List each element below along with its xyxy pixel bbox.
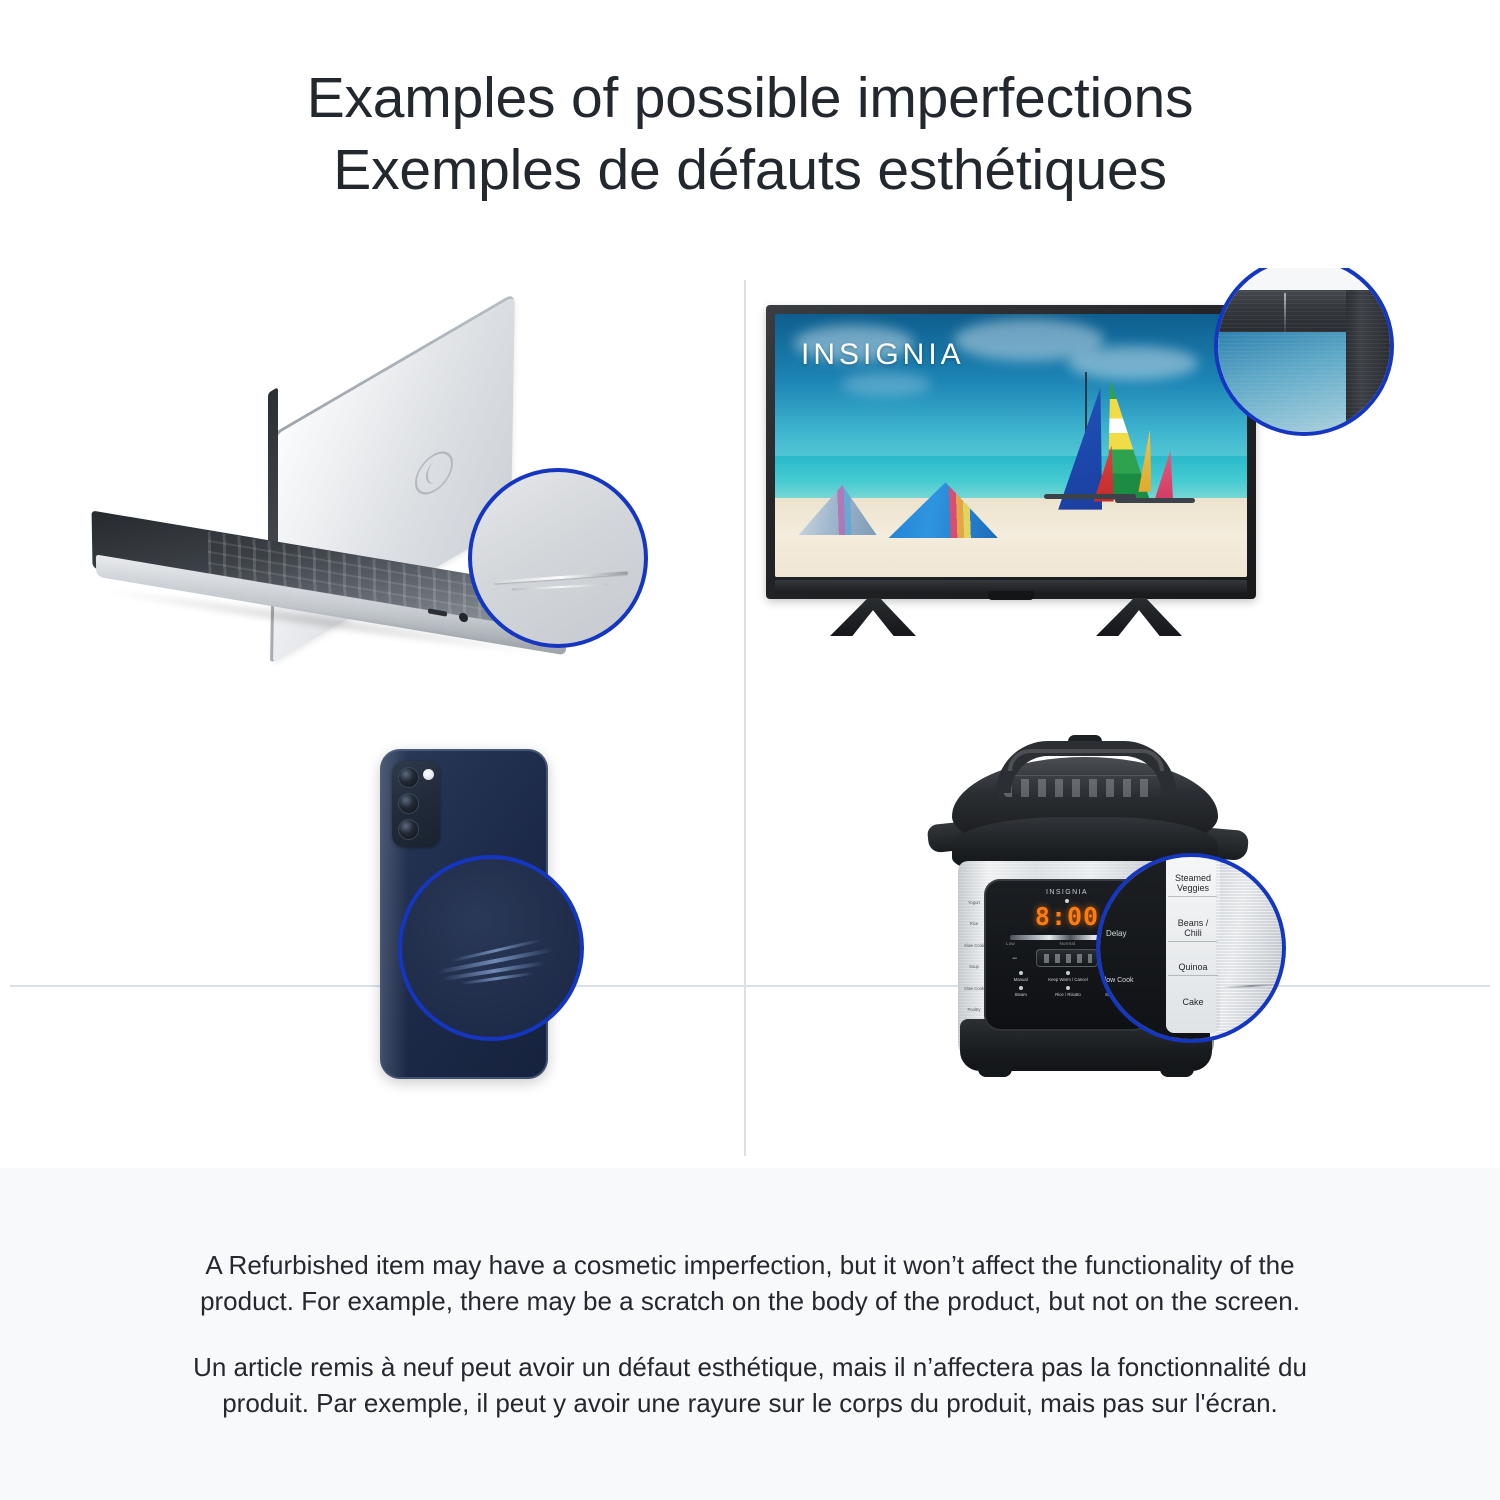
cooker-left-button-column[interactable]: Yogurt Rice Slow Cook Soup Slow Cook Pou… <box>964 883 984 1029</box>
magnifier-phone-scratches <box>398 855 584 1041</box>
cooker-foot-left <box>978 1065 1012 1077</box>
magnified-button-quinoa[interactable]: Quinoa <box>1168 959 1218 976</box>
tv-ir-receiver <box>988 591 1034 600</box>
page-title-french: Exemples de défauts esthétiques <box>333 134 1167 206</box>
television-illustration: INSIGNIA <box>746 268 1500 717</box>
tv-screen: INSIGNIA <box>775 314 1247 577</box>
magnified-button-cake[interactable]: Cake <box>1168 994 1218 1010</box>
example-cell-smartphone <box>0 719 744 1168</box>
cooker-grid-button[interactable]: Manual <box>998 971 1043 982</box>
disclaimer-paragraph-french: Un article remis à neuf peut avoir un dé… <box>180 1349 1320 1421</box>
tv-leg-right <box>1096 598 1182 636</box>
button-led-icon <box>1019 971 1023 975</box>
footer-disclaimer: A Refurbished item may have a cosmetic i… <box>0 1168 1500 1500</box>
tv-screen-brand-logo: INSIGNIA <box>801 338 965 372</box>
cooker-grid-button-label: Steam <box>1014 992 1026 997</box>
example-cell-pressure-cooker: Yogurt Rice Slow Cook Soup Slow Cook Pou… <box>746 719 1500 1168</box>
scratch-mark-secondary <box>512 583 608 590</box>
cooker-led-display: 8:00 <box>1030 903 1104 929</box>
cooker-handle-highlight <box>1008 749 1164 771</box>
scratch-mark-primary <box>494 571 628 583</box>
cooker-left-button[interactable]: Rice <box>970 921 978 926</box>
magnifier-cooker-scratch: Delay Slow Cook Steamed Veggies Beans / … <box>1096 853 1286 1043</box>
example-cell-television: INSIGNIA <box>746 268 1500 717</box>
pressure-label-normal: Normal <box>1060 941 1076 946</box>
tv-bezel-texture <box>1214 290 1394 436</box>
tv-leg-left <box>830 598 916 636</box>
boat-hull <box>1115 498 1195 503</box>
cloud-shape <box>841 372 931 396</box>
button-led-icon <box>1066 971 1070 975</box>
cooker-grid-button[interactable]: Keep Warm / Cancel <box>1045 971 1090 982</box>
smartphone-illustration <box>0 719 744 1168</box>
cooker-foot-right <box>1160 1065 1194 1077</box>
pressure-cooker-illustration: Yogurt Rice Slow Cook Soup Slow Cook Pou… <box>746 719 1500 1168</box>
page-header: Examples of possible imperfections Exemp… <box>0 0 1500 268</box>
scuff-mark <box>1284 293 1286 333</box>
cooker-grid-button-label: Keep Warm / Cancel <box>1048 977 1087 982</box>
cooker-grid-button[interactable]: Rice / Risotto <box>1045 986 1090 997</box>
magnified-button-steamed-veggies[interactable]: Steamed Veggies <box>1168 870 1218 897</box>
cooker-grid-button-label: Rice / Risotto <box>1055 992 1081 997</box>
cloud-shape <box>1068 346 1198 380</box>
magnified-button-column[interactable]: Steamed Veggies Beans / Chili Quinoa Cak… <box>1166 853 1220 1033</box>
example-cell-laptop <box>0 268 744 717</box>
cooker-grid-button[interactable]: Steam <box>998 986 1043 997</box>
magnified-label-delay: Delay <box>1106 929 1126 938</box>
cooker-left-button[interactable]: Soup <box>969 964 979 969</box>
magnified-brushed-steel <box>1216 857 1286 1043</box>
button-led-icon <box>1019 986 1023 990</box>
cooker-decrease-button[interactable]: − <box>1012 953 1017 963</box>
disclaimer-paragraph-english: A Refurbished item may have a cosmetic i… <box>180 1247 1320 1319</box>
magnifier-tv-bezel-scuff <box>1214 268 1394 436</box>
magnifier-laptop-scratch <box>468 468 648 648</box>
cooker-left-button[interactable]: Yogurt <box>968 900 980 905</box>
magnified-button-beans-chili[interactable]: Beans / Chili <box>1168 915 1218 942</box>
tv-chassis: INSIGNIA <box>766 305 1256 599</box>
page-title-english: Examples of possible imperfections <box>307 62 1194 134</box>
cooker-left-button[interactable]: Slow Cook <box>964 943 984 948</box>
page-root: Examples of possible imperfections Exemp… <box>0 0 1500 1500</box>
magnified-label-slow-cook: Slow Cook <box>1100 977 1133 984</box>
cooker-keypad[interactable] <box>1036 949 1098 967</box>
laptop-illustration <box>0 268 744 717</box>
cooker-left-button[interactable]: Poultry <box>967 1007 980 1012</box>
pressure-label-low: Low <box>1006 941 1015 946</box>
cooker-left-button[interactable]: Slow Cook <box>964 986 984 991</box>
button-led-icon <box>1066 986 1070 990</box>
sail-blue <box>1058 388 1102 510</box>
examples-grid: INSIGNIA <box>0 268 1500 1168</box>
cooker-grid-button-label: Manual <box>1014 977 1028 982</box>
